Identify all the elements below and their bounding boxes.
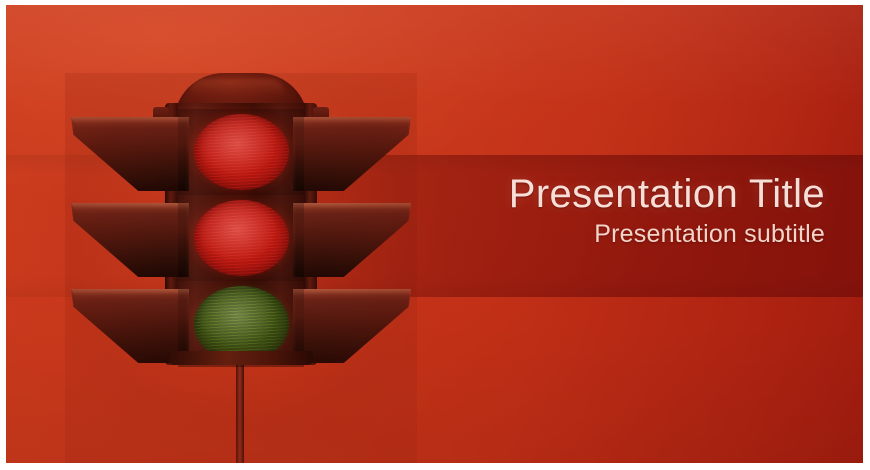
traffic-light-cell-top xyxy=(178,109,304,195)
lens-highlight xyxy=(194,114,289,190)
traffic-light-pole xyxy=(236,361,244,463)
traffic-light-base-shelf xyxy=(169,351,313,365)
traffic-light-cap-highlight xyxy=(189,79,285,99)
visor-lip xyxy=(71,203,189,214)
traffic-light-lamp-red-middle xyxy=(194,200,289,276)
traffic-light-lamp-red-top xyxy=(194,114,289,190)
slide-canvas[interactable]: Presentation Title Presentation subtitle xyxy=(6,5,863,463)
traffic-light-cell-middle xyxy=(178,195,304,281)
traffic-light-illustration xyxy=(65,73,417,463)
visor-wedge xyxy=(71,203,189,277)
visor-lip xyxy=(293,117,411,128)
traffic-light-visor-top-left xyxy=(71,117,189,191)
visor-lip xyxy=(71,117,189,128)
slide-frame: Presentation Title Presentation subtitle xyxy=(0,0,870,470)
visor-lip xyxy=(71,289,189,300)
lens-highlight xyxy=(194,200,289,276)
visor-lip xyxy=(293,289,411,300)
traffic-light-visor-middle-left xyxy=(71,203,189,277)
presentation-subtitle[interactable]: Presentation subtitle xyxy=(305,219,825,249)
visor-wedge xyxy=(71,117,189,191)
presentation-title[interactable]: Presentation Title xyxy=(305,171,825,217)
title-block: Presentation Title Presentation subtitle xyxy=(305,171,825,249)
